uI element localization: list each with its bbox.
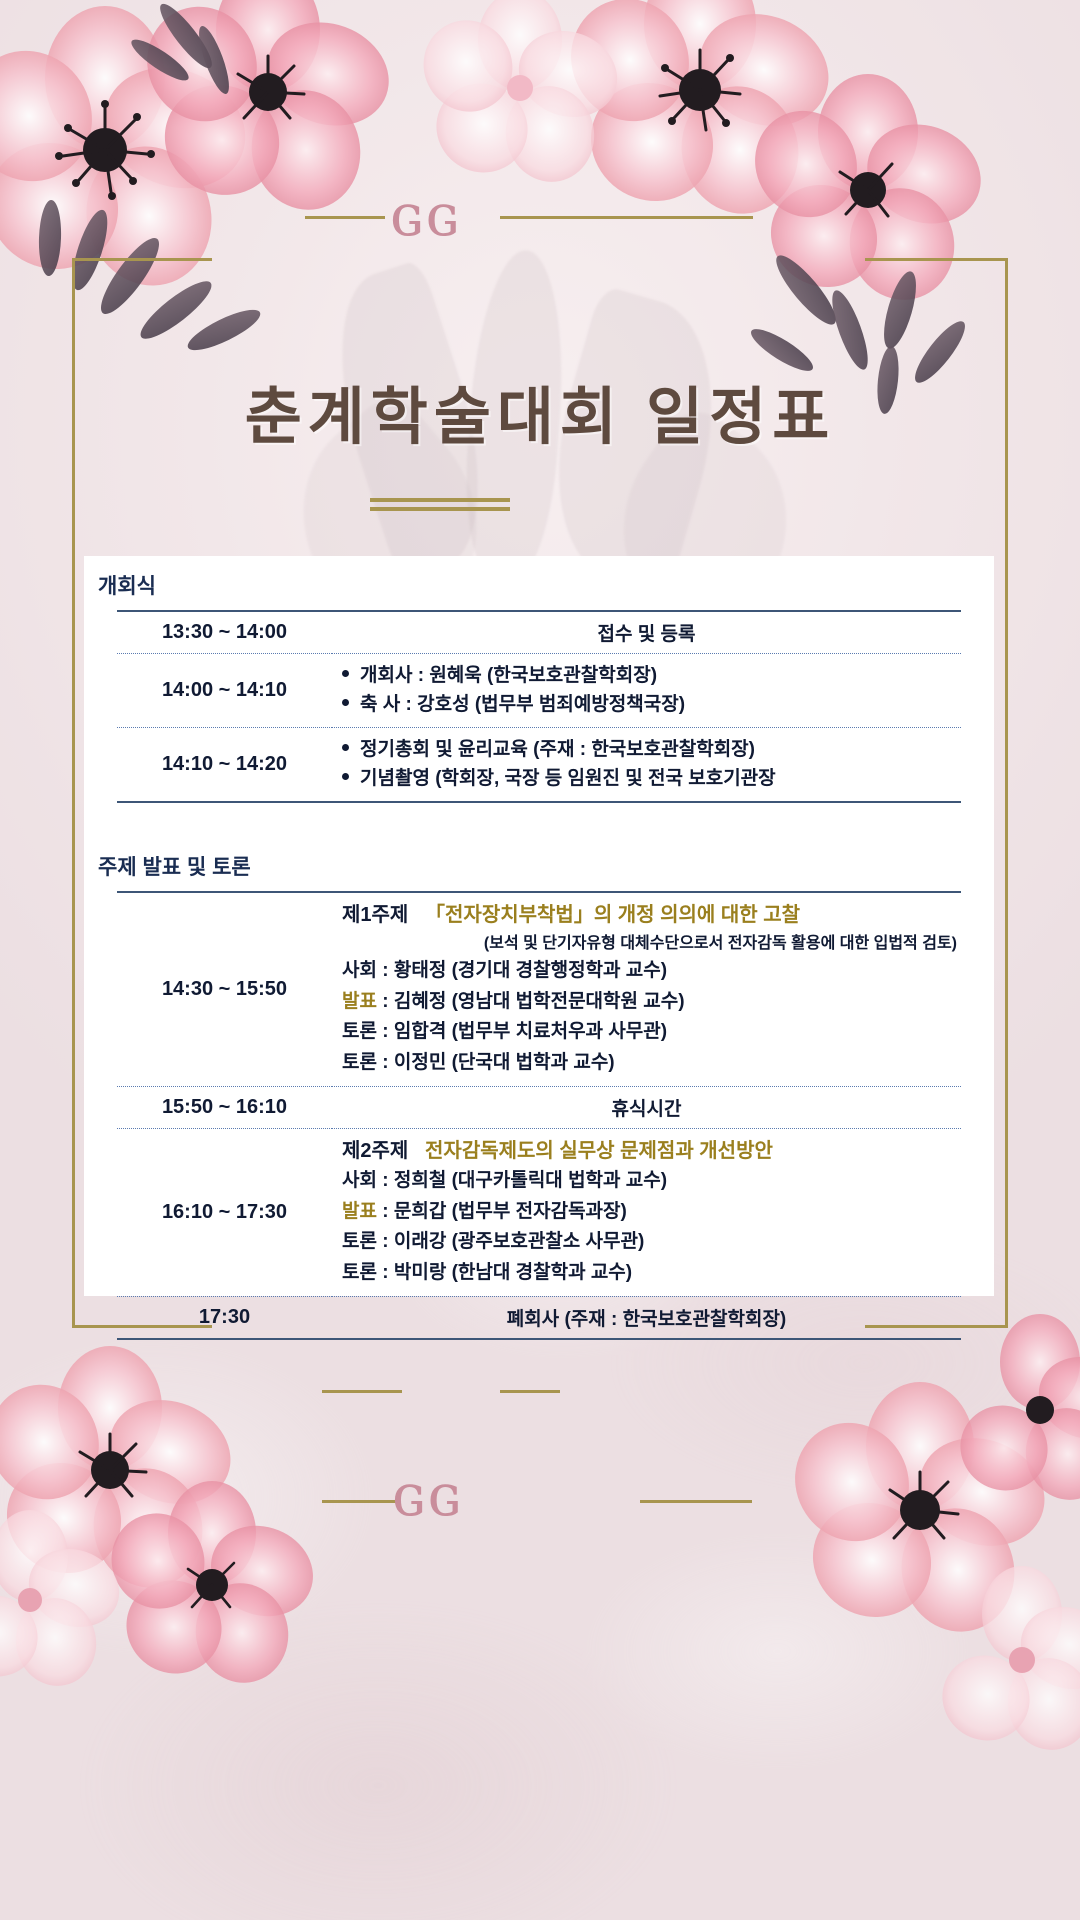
bottom-rule-right [500,1390,560,1393]
row-content: 접수 및 등록 [332,611,961,654]
row-time: 14:00 ~ 14:10 [117,654,332,728]
role-line: 토론 : 박미랑 (한남대 경찰학과 교수) [332,1258,961,1289]
table-row: 13:30 ~ 14:00 접수 및 등록 [117,611,961,654]
schedule-table-opening-ceremony: 13:30 ~ 14:00 접수 및 등록 14:00 ~ 14:10 개회사 … [117,610,961,803]
role-line: 토론 : 이래강 (광주보호관찰소 사무관) [332,1227,961,1258]
row-content: 폐회사 (주재 : 한국보호관찰학회장) [332,1296,961,1339]
top-rule-right [500,216,753,219]
topic-tag: 제1주제 [342,904,408,926]
page-title: 춘계학술대회 일정표 [0,366,1080,456]
row-time: 16:10 ~ 17:30 [117,1128,332,1296]
list-item: 개회사 : 원혜욱 (한국보호관찰학회장) [340,661,961,690]
role-label: 토론 [342,1052,377,1073]
topic-title-line: 제1주제 「전자장치부착법」의 개정 의의에 대한 고찰 (보석 및 단기자유형… [332,900,961,956]
role-label: 사회 [342,960,377,981]
role-value: 임합격 (법무부 치료처우과 사무관) [394,1021,667,1042]
list-item: 기념촬영 (학회장, 국장 등 임원진 및 전국 보호기관장 [340,764,961,793]
bottom-rule-left-2 [322,1500,397,1503]
swirl-ornament-top-icon: ɢɢ [390,186,461,244]
list-item: 정기총회 및 윤리교육 (주재 : 한국보호관찰학회장) [340,735,961,764]
row-time: 14:10 ~ 14:20 [117,727,332,801]
topic-subnote: (보석 및 단기자유형 대체수단으로서 전자감독 활용에 대한 입법적 검토) [342,932,961,956]
row-content: 개회사 : 원혜욱 (한국보호관찰학회장) 축 사 : 강호성 (법무부 범죄예… [332,654,961,728]
role-label: 토론 [342,1262,377,1283]
section-heading-opening-ceremony: 개회식 [84,556,994,610]
role-label: 토론 [342,1021,377,1042]
role-line: 사회 : 정희철 (대구카톨릭대 법학과 교수) [332,1166,961,1197]
row-content: 제2주제 전자감독제도의 실무상 문제점과 개선방안 사회 : 정희철 (대구카… [332,1128,961,1296]
role-line: 발표 : 김혜정 (영남대 법학전문대학원 교수) [332,987,961,1018]
topic-tag: 제2주제 [342,1140,408,1162]
role-value: 김혜정 (영남대 법학전문대학원 교수) [394,991,685,1012]
role-label: 발표 [342,1201,377,1222]
role-label: 사회 [342,1170,377,1191]
swirl-ornament-bottom-icon: ɢɢ [392,1466,463,1524]
role-value: 박미랑 (한남대 경찰학과 교수) [394,1262,632,1283]
role-line: 발표 : 문희갑 (법무부 전자감독과장) [332,1197,961,1228]
section-spacer [84,803,994,837]
role-value: 이래강 (광주보호관찰소 사무관) [394,1231,644,1252]
bottom-rule-left [322,1390,402,1393]
schedule-table-presentations: 14:30 ~ 15:50 제1주제 「전자장치부착법」의 개정 의의에 대한 … [117,891,961,1340]
bullet-list: 정기총회 및 윤리교육 (주재 : 한국보호관찰학회장) 기념촬영 (학회장, … [332,735,961,794]
role-line: 토론 : 이정민 (단국대 법학과 교수) [332,1048,961,1079]
row-time: 13:30 ~ 14:00 [117,611,332,654]
topic-text: 「전자장치부착법」의 개정 의의에 대한 고찰 [425,904,800,926]
table-row: 16:10 ~ 17:30 제2주제 전자감독제도의 실무상 문제점과 개선방안… [117,1128,961,1296]
table-row: 15:50 ~ 16:10 휴식시간 [117,1086,961,1128]
role-label: 발표 [342,991,377,1012]
schedule-card: 개회식 13:30 ~ 14:00 접수 및 등록 14:00 ~ 14:10 … [84,556,994,1296]
row-content: 휴식시간 [332,1086,961,1128]
row-time: 14:30 ~ 15:50 [117,892,332,1087]
frame-border-top-right [865,258,1008,261]
title-double-rule [370,498,510,511]
table-row: 14:00 ~ 14:10 개회사 : 원혜욱 (한국보호관찰학회장) 축 사 … [117,654,961,728]
topic-text: 전자감독제도의 실무상 문제점과 개선방안 [425,1140,773,1162]
table-row: 14:30 ~ 15:50 제1주제 「전자장치부착법」의 개정 의의에 대한 … [117,892,961,1087]
role-line: 사회 : 황태정 (경기대 경찰행정학과 교수) [332,956,961,987]
row-content: 제1주제 「전자장치부착법」의 개정 의의에 대한 고찰 (보석 및 단기자유형… [332,892,961,1087]
list-item: 축 사 : 강호성 (법무부 범죄예방정책국장) [340,690,961,719]
bullet-list: 개회사 : 원혜욱 (한국보호관찰학회장) 축 사 : 강호성 (법무부 범죄예… [332,661,961,720]
section-heading-presentations: 주제 발표 및 토론 [84,837,994,891]
row-time: 17:30 [117,1296,332,1339]
bottom-rule-right-2 [640,1500,752,1503]
top-rule-left [305,216,385,219]
table-row: 17:30 폐회사 (주재 : 한국보호관찰학회장) [117,1296,961,1339]
topic-title-line: 제2주제 전자감독제도의 실무상 문제점과 개선방안 [332,1136,961,1166]
role-label: 토론 [342,1231,377,1252]
role-value: 정희철 (대구카톨릭대 법학과 교수) [394,1170,667,1191]
role-value: 이정민 (단국대 법학과 교수) [394,1052,615,1073]
role-line: 토론 : 임합격 (법무부 치료처우과 사무관) [332,1017,961,1048]
role-value: 황태정 (경기대 경찰행정학과 교수) [394,960,667,981]
row-content: 정기총회 및 윤리교육 (주재 : 한국보호관찰학회장) 기념촬영 (학회장, … [332,727,961,801]
row-time: 15:50 ~ 16:10 [117,1086,332,1128]
frame-border-top-left [72,258,212,261]
role-value: 문희갑 (법무부 전자감독과장) [394,1201,627,1222]
table-row: 14:10 ~ 14:20 정기총회 및 윤리교육 (주재 : 한국보호관찰학회… [117,727,961,801]
